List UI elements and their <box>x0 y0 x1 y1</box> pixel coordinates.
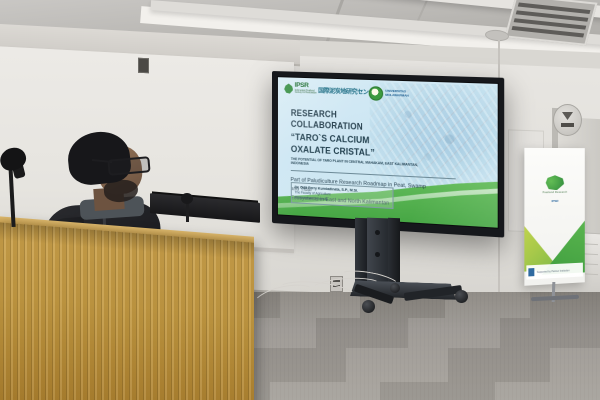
roll-up-banner: Peatland Research IPSR Supported by Part… <box>524 148 584 286</box>
conference-room-photo: IPSR Indonesian Peatland Society for Res… <box>0 0 600 400</box>
university-seal-icon <box>369 86 383 101</box>
glasses-icon <box>107 156 150 176</box>
university-line-2: MULAWARMAN <box>385 93 408 97</box>
display-screen[interactable]: IPSR Indonesian Peatland Society for Res… <box>272 71 504 238</box>
banner-footer-icon <box>529 268 535 276</box>
second-microphone-head <box>181 193 193 204</box>
wall-fixture-upper <box>138 58 149 74</box>
banner-footer-text: Supported by Partner Institution <box>537 269 570 274</box>
wall-clock <box>553 104 582 136</box>
ipsr-subtitle-2: Society for Restoration <box>295 92 317 95</box>
banner-footer: Supported by Partner Institution <box>527 263 583 280</box>
ipsr-logo: IPSR Indonesian Peatland Society for Res… <box>284 83 380 98</box>
leaf-logo-icon <box>284 83 293 93</box>
floor-cables <box>250 282 450 322</box>
tv-stand-caster-right <box>455 290 468 303</box>
slide-title-line2: “TARO`S CALCIUM OXALATE CRISTAL” <box>291 131 413 161</box>
banner-logo: Peatland Research IPSR <box>543 175 568 203</box>
banner-tagline: Peatland Research <box>543 191 568 194</box>
leaf-logo-icon <box>546 175 565 190</box>
banner-org: IPSR <box>543 199 568 203</box>
presentation-slide: IPSR Indonesian Peatland Society for Res… <box>278 77 498 228</box>
university-logo: UNIVERSITAS MULAWARMAN <box>369 86 409 102</box>
